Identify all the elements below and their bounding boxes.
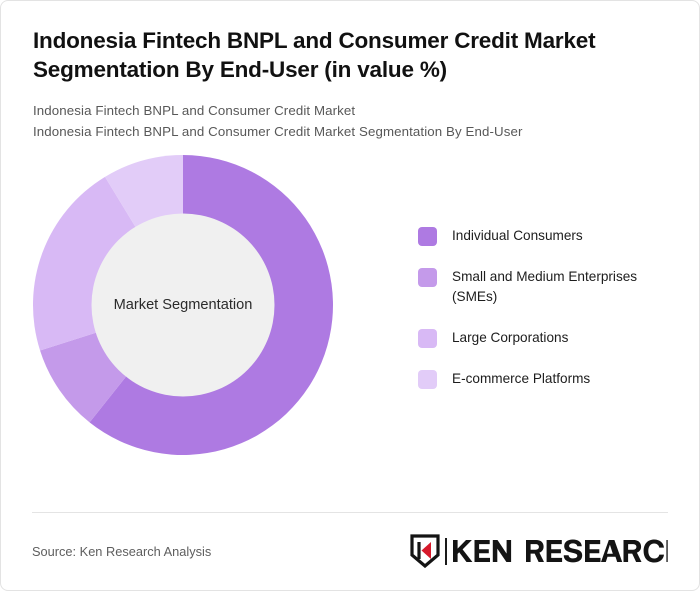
chart-header: Indonesia Fintech BNPL and Consumer Cred…: [1, 1, 699, 142]
footer-divider: [32, 512, 668, 513]
logo-divider: [445, 538, 447, 565]
ken-research-wordmark: [453, 538, 668, 564]
subtitle-block: Indonesia Fintech BNPL and Consumer Cred…: [33, 101, 667, 142]
ken-research-logo: [410, 534, 668, 568]
ken-research-logo-mark-icon: [410, 534, 440, 568]
legend-item[interactable]: E-commerce Platforms: [418, 369, 668, 389]
legend-item-label: Individual Consumers: [452, 226, 583, 246]
legend-item[interactable]: Large Corporations: [418, 328, 668, 348]
source-text: Source: Ken Research Analysis: [32, 544, 211, 559]
chart-body: Market Segmentation Individual Consumers…: [1, 154, 699, 484]
page-title: Indonesia Fintech BNPL and Consumer Cred…: [33, 27, 667, 84]
donut-svg: [32, 154, 334, 456]
donut-inner-circle: [92, 214, 275, 397]
subtitle-line-1: Indonesia Fintech BNPL and Consumer Cred…: [33, 101, 667, 122]
legend-item[interactable]: Small and Medium Enterprises (SMEs): [418, 267, 668, 306]
legend-swatch-icon: [418, 329, 437, 348]
legend-item-label: Large Corporations: [452, 328, 568, 348]
chart-footer: Source: Ken Research Analysis: [32, 529, 668, 573]
subtitle-line-2: Indonesia Fintech BNPL and Consumer Cred…: [33, 122, 667, 143]
legend-swatch-icon: [418, 370, 437, 389]
legend-item[interactable]: Individual Consumers: [418, 226, 668, 246]
legend-item-label: E-commerce Platforms: [452, 369, 590, 389]
chart-card: Indonesia Fintech BNPL and Consumer Cred…: [0, 0, 700, 591]
donut-chart: Market Segmentation: [32, 154, 334, 456]
legend-item-label: Small and Medium Enterprises (SMEs): [452, 267, 668, 306]
chart-legend: Individual ConsumersSmall and Medium Ent…: [418, 226, 668, 388]
legend-swatch-icon: [418, 227, 437, 246]
legend-swatch-icon: [418, 268, 437, 287]
